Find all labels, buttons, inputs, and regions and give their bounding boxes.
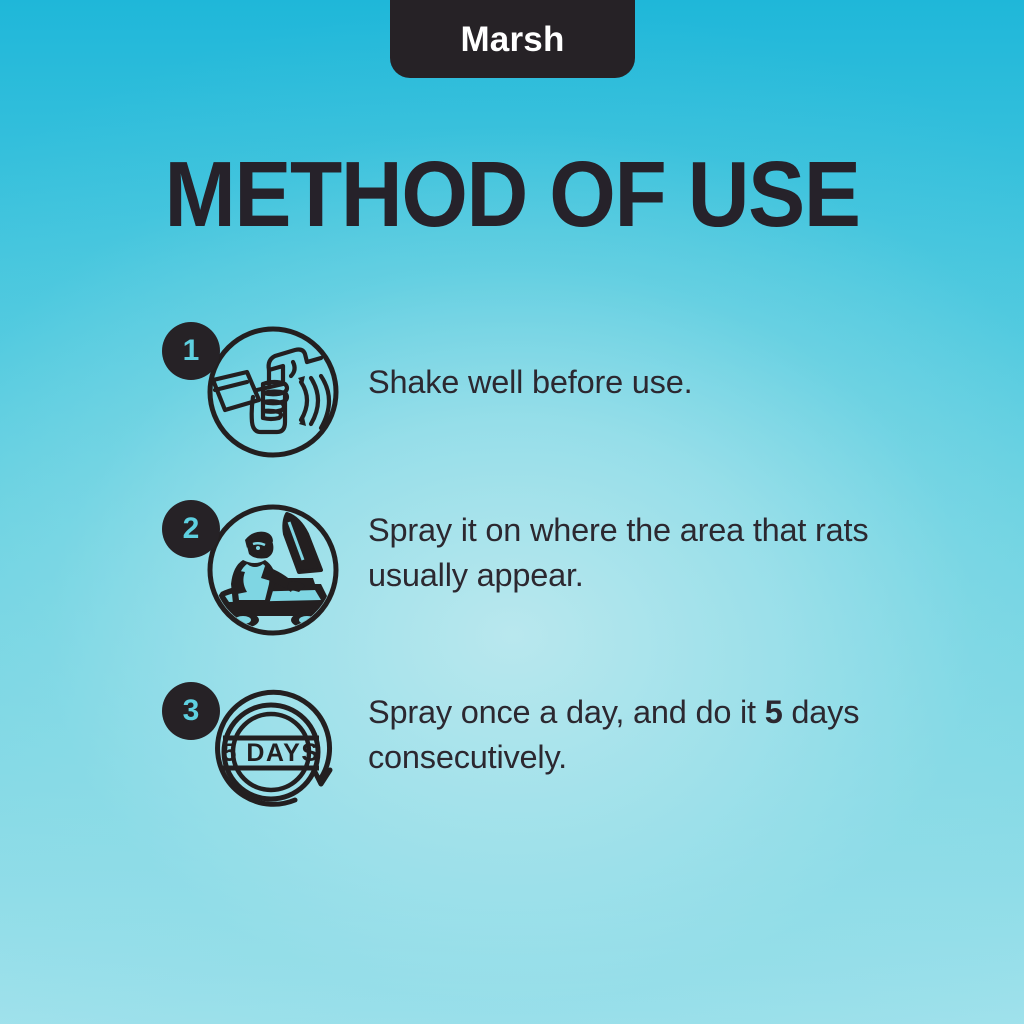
list-item: 5 DAYS 3 Spray once a day, and do it 5 d… xyxy=(0,660,1024,830)
step-2-icon-group: 2 xyxy=(158,478,368,638)
step-highlight: 5 xyxy=(765,694,783,730)
step-number: 1 xyxy=(162,322,220,380)
step-number-badge: 1 xyxy=(162,322,220,380)
step-number: 3 xyxy=(162,682,220,740)
step-description: Spray once a day, and do it 5 days conse… xyxy=(368,660,928,780)
step-description: Spray it on where the area that rats usu… xyxy=(368,478,928,598)
step-number-badge: 2 xyxy=(162,500,220,558)
step-description: Shake well before use. xyxy=(368,300,692,405)
brand-name: Marsh xyxy=(460,22,564,57)
poster-canvas: Marsh METHOD OF USE xyxy=(0,0,1024,1024)
page-title: METHOD OF USE xyxy=(41,148,983,241)
step-number: 2 xyxy=(162,500,220,558)
hand-shaking-spray-bottle-icon xyxy=(203,322,343,467)
steps-list: 1 Shake well before use. xyxy=(0,300,1024,830)
step-3-icon-group: 5 DAYS 3 xyxy=(158,660,368,820)
mechanic-under-car-hood-icon xyxy=(203,500,343,645)
five-days-label: 5 DAYS xyxy=(222,739,319,767)
brand-tab: Marsh xyxy=(390,0,635,78)
list-item: 2 Spray it on where the area that rats u… xyxy=(0,478,1024,648)
step-1-icon-group: 1 xyxy=(158,300,368,460)
five-days-cycle-icon: 5 DAYS xyxy=(203,682,348,827)
list-item: 1 Shake well before use. xyxy=(0,300,1024,470)
step-number-badge: 3 xyxy=(162,682,220,740)
